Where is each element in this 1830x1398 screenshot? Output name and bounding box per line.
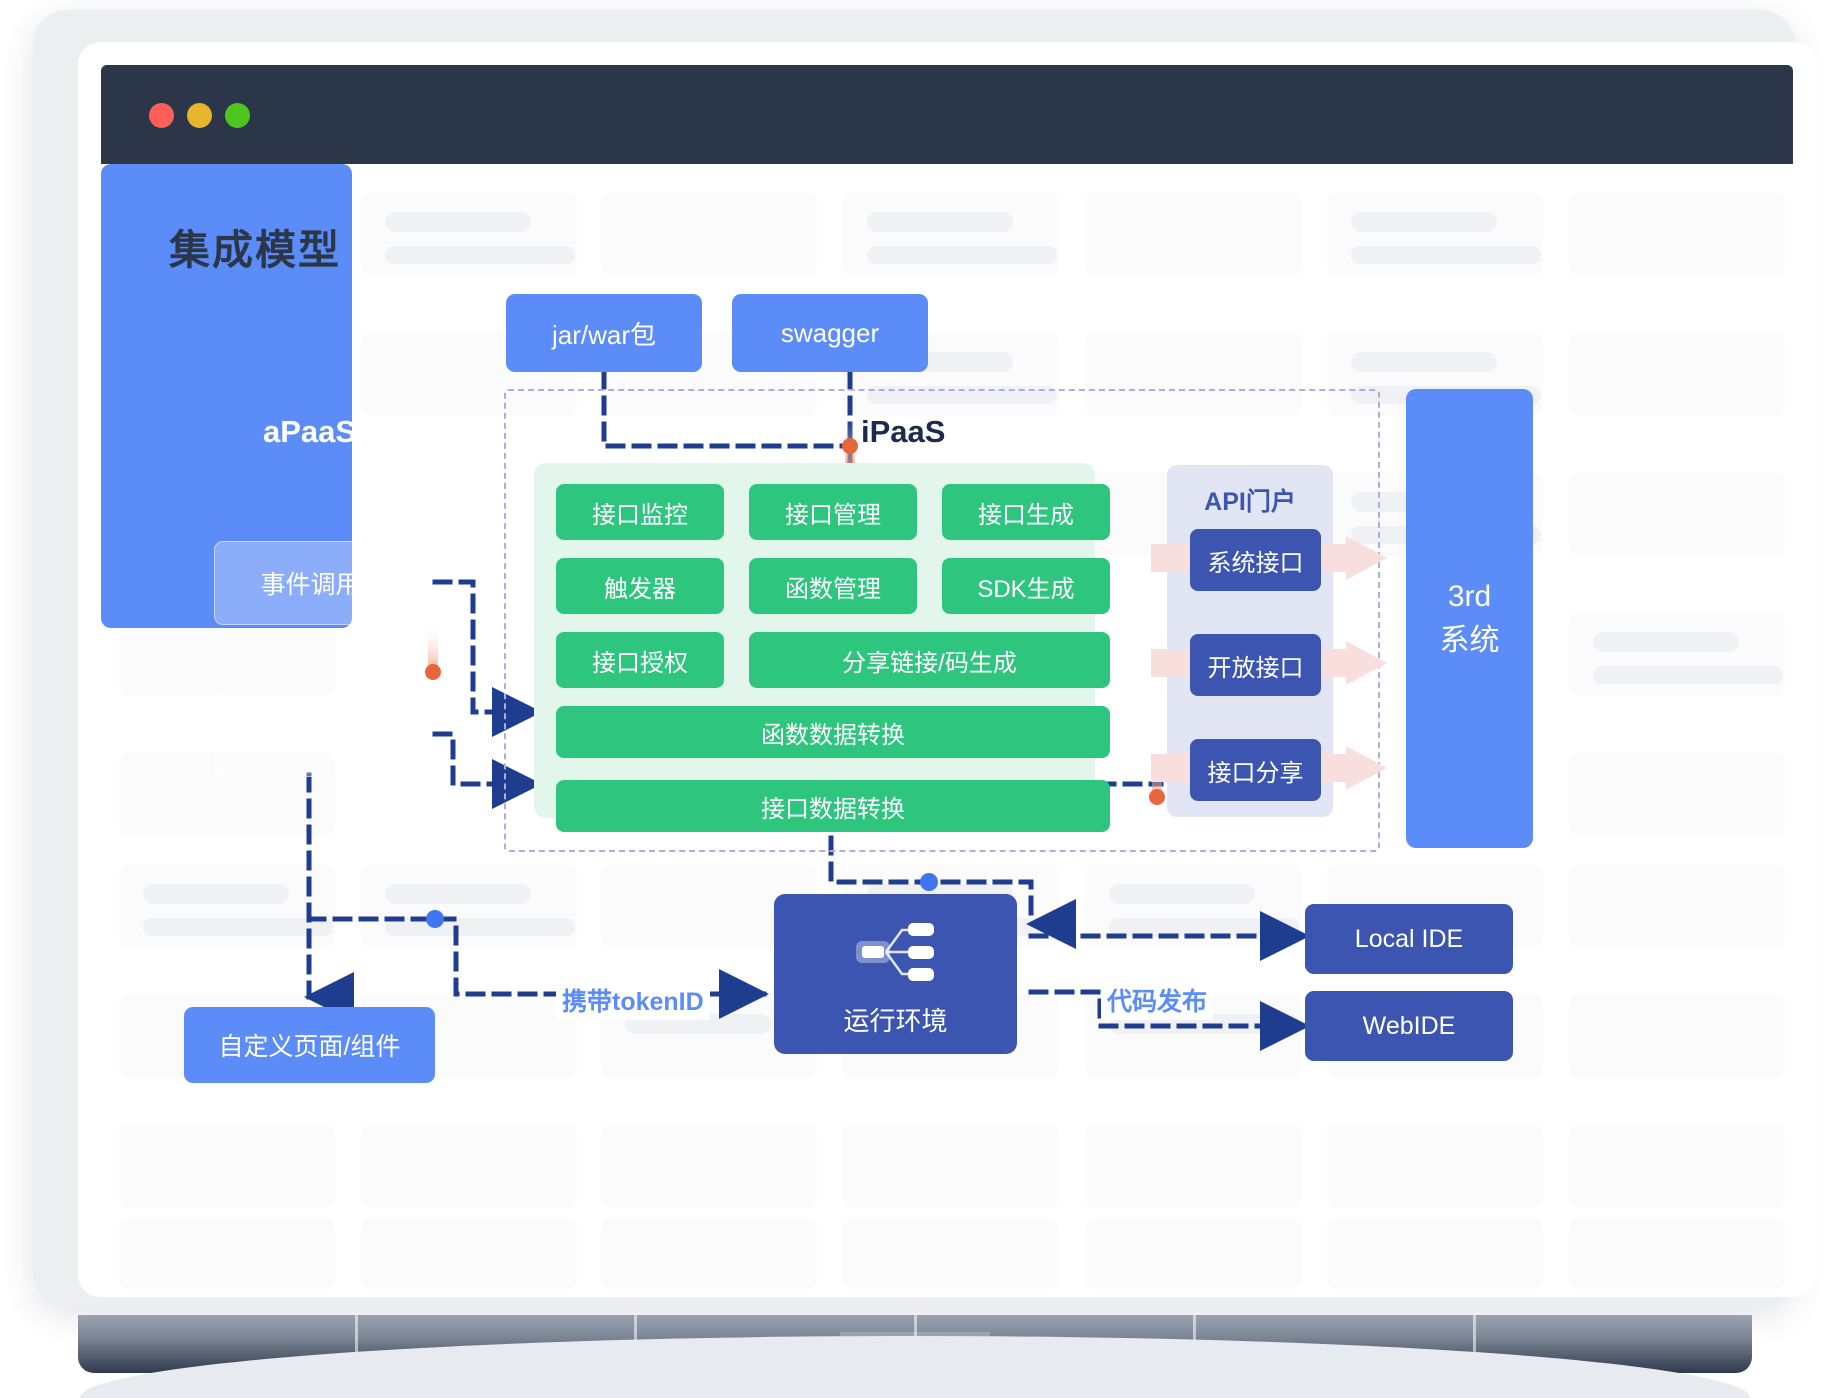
node-interface-monitoring[interactable]: 接口监控 <box>556 484 724 540</box>
node-tree-icon <box>846 916 951 988</box>
node-interface-generation[interactable]: 接口生成 <box>942 484 1110 540</box>
node-interface-authorization[interactable]: 接口授权 <box>556 632 724 688</box>
close-icon[interactable] <box>149 103 174 128</box>
integration-model-diagram: 集成模型 jar/war包 swagger aPaaS 事件调用 前端ifram… <box>101 164 1793 1297</box>
page-canvas: 集成模型 jar/war包 swagger aPaaS 事件调用 前端ifram… <box>101 164 1793 1297</box>
third-system-line2: 系统 <box>1440 619 1500 663</box>
maximize-icon[interactable] <box>225 103 250 128</box>
node-sdk-generation[interactable]: SDK生成 <box>942 558 1110 614</box>
node-jar-war-package[interactable]: jar/war包 <box>506 294 702 372</box>
node-interface-management[interactable]: 接口管理 <box>749 484 917 540</box>
panel-apaas-title: aPaaS <box>184 414 435 450</box>
node-function-management[interactable]: 函数管理 <box>749 558 917 614</box>
node-system-interface[interactable]: 系统接口 <box>1190 529 1321 591</box>
node-event-invoke[interactable]: 事件调用 <box>214 541 407 625</box>
third-system-line1: 3rd <box>1448 575 1491 619</box>
minimize-icon[interactable] <box>187 103 212 128</box>
node-open-interface[interactable]: 开放接口 <box>1190 634 1321 696</box>
panel-api-portal-title: API门户 <box>1167 482 1333 518</box>
browser-titlebar <box>101 65 1793 164</box>
edge-label-token-id: 携带tokenID <box>556 980 710 1020</box>
node-third-party-system[interactable]: 3rd 系统 <box>1406 389 1533 848</box>
laptop-body: 集成模型 jar/war包 swagger aPaaS 事件调用 前端ifram… <box>33 10 1795 1306</box>
node-frontend-iframe[interactable]: 前端iframe <box>214 693 407 777</box>
page-title: 集成模型 <box>169 216 341 276</box>
laptop-mockup: 集成模型 jar/war包 swagger aPaaS 事件调用 前端ifram… <box>0 0 1830 1397</box>
panel-ipaas-title: iPaaS <box>861 414 945 450</box>
runtime-label: 运行环境 <box>843 1001 947 1038</box>
node-interface-data-transform[interactable]: 接口数据转换 <box>556 780 1110 832</box>
node-custom-page-component[interactable]: 自定义页面/组件 <box>184 1007 435 1083</box>
edge-label-code-deploy: 代码发布 <box>1101 980 1213 1020</box>
laptop-screen: 集成模型 jar/war包 swagger aPaaS 事件调用 前端ifram… <box>78 42 1816 1297</box>
node-web-ide[interactable]: WebIDE <box>1305 991 1513 1061</box>
node-share-link-qrcode-generation[interactable]: 分享链接/码生成 <box>749 632 1110 688</box>
node-function-data-transform[interactable]: 函数数据转换 <box>556 706 1110 758</box>
node-swagger[interactable]: swagger <box>732 294 928 372</box>
node-local-ide[interactable]: Local IDE <box>1305 904 1513 974</box>
node-trigger[interactable]: 触发器 <box>556 558 724 614</box>
node-interface-share[interactable]: 接口分享 <box>1190 739 1321 801</box>
